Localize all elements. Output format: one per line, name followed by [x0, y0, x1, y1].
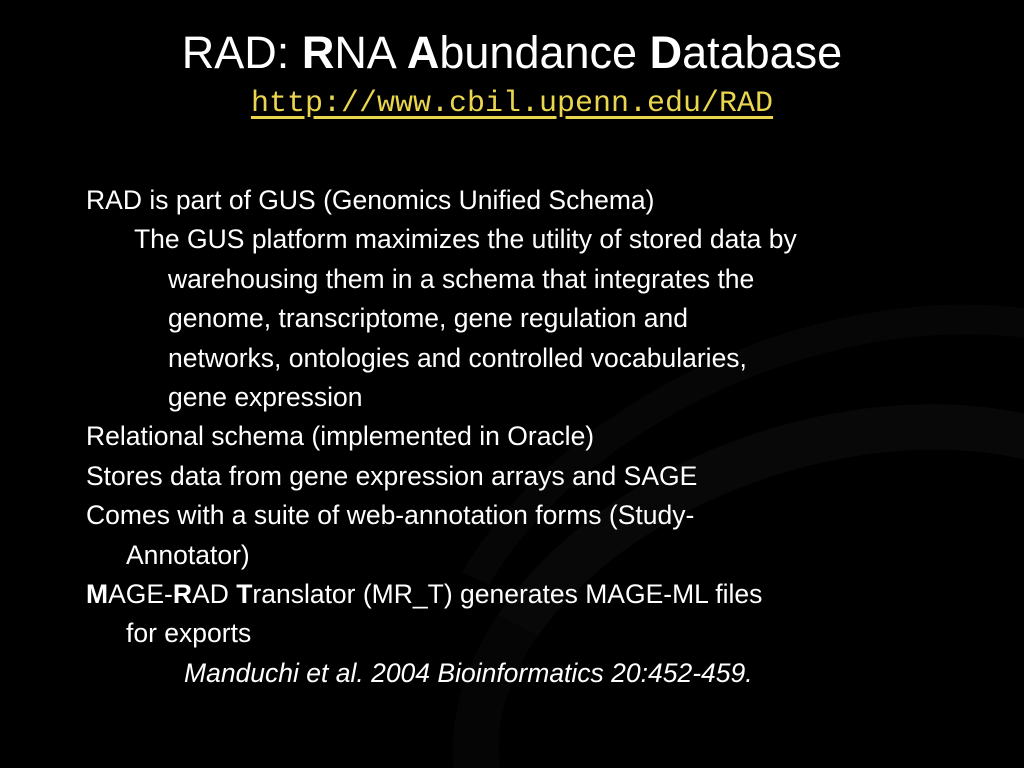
bullet-rad-part-of-gus: RAD is part of GUS (Genomics Unified Sch…: [86, 181, 1016, 220]
bullet-gus-platform-line2: warehousing them in a schema that integr…: [168, 260, 1016, 299]
mrt-bold-t: T: [236, 579, 252, 609]
mrt-after-r: AD: [192, 579, 236, 609]
bullet-gus-platform-line5: gene expression: [168, 378, 1016, 417]
title-block: RAD: RNA Abundance Database http://www.c…: [0, 24, 1024, 123]
mrt-after-t: ranslator (MR_T) generates MAGE-ML files: [252, 579, 762, 609]
bullet-stores-data: Stores data from gene expression arrays …: [86, 457, 1016, 496]
title-prefix: RAD:: [182, 27, 302, 78]
citation-text: Manduchi et al. 2004 Bioinformatics 20:4…: [184, 654, 1016, 693]
slide-body: RAD is part of GUS (Genomics Unified Sch…: [86, 181, 1016, 693]
mrt-after-m: AGE-: [108, 579, 173, 609]
presentation-slide: RAD: RNA Abundance Database http://www.c…: [0, 0, 1024, 768]
title-bold-d: D: [650, 27, 683, 78]
bullet-gus-platform-line1: The GUS platform maximizes the utility o…: [134, 220, 1016, 259]
bullet-web-annotation-line2: Annotator): [126, 536, 1016, 575]
title-after-d: atabase: [682, 27, 842, 78]
bullet-web-annotation-line1: Comes with a suite of web-annotation for…: [86, 496, 1016, 535]
rad-website-link[interactable]: http://www.cbil.upenn.edu/RAD: [251, 85, 773, 123]
bullet-mage-rad-translator: MAGE-RAD Translator (MR_T) generates MAG…: [86, 575, 1016, 614]
page-title: RAD: RNA Abundance Database: [0, 24, 1024, 82]
title-after-a: bundance: [439, 27, 649, 78]
bullet-gus-platform-line4: networks, ontologies and controlled voca…: [168, 339, 1016, 378]
bullet-mrt-line2: for exports: [126, 614, 1016, 653]
bullet-relational-schema: Relational schema (implemented in Oracle…: [86, 417, 1016, 456]
title-bold-a: A: [407, 27, 440, 78]
mrt-bold-m: M: [86, 579, 108, 609]
title-bold-r: R: [302, 27, 335, 78]
title-after-r: NA: [334, 27, 407, 78]
mrt-bold-r: R: [173, 579, 192, 609]
bullet-gus-platform-line3: genome, transcriptome, gene regulation a…: [168, 299, 1016, 338]
